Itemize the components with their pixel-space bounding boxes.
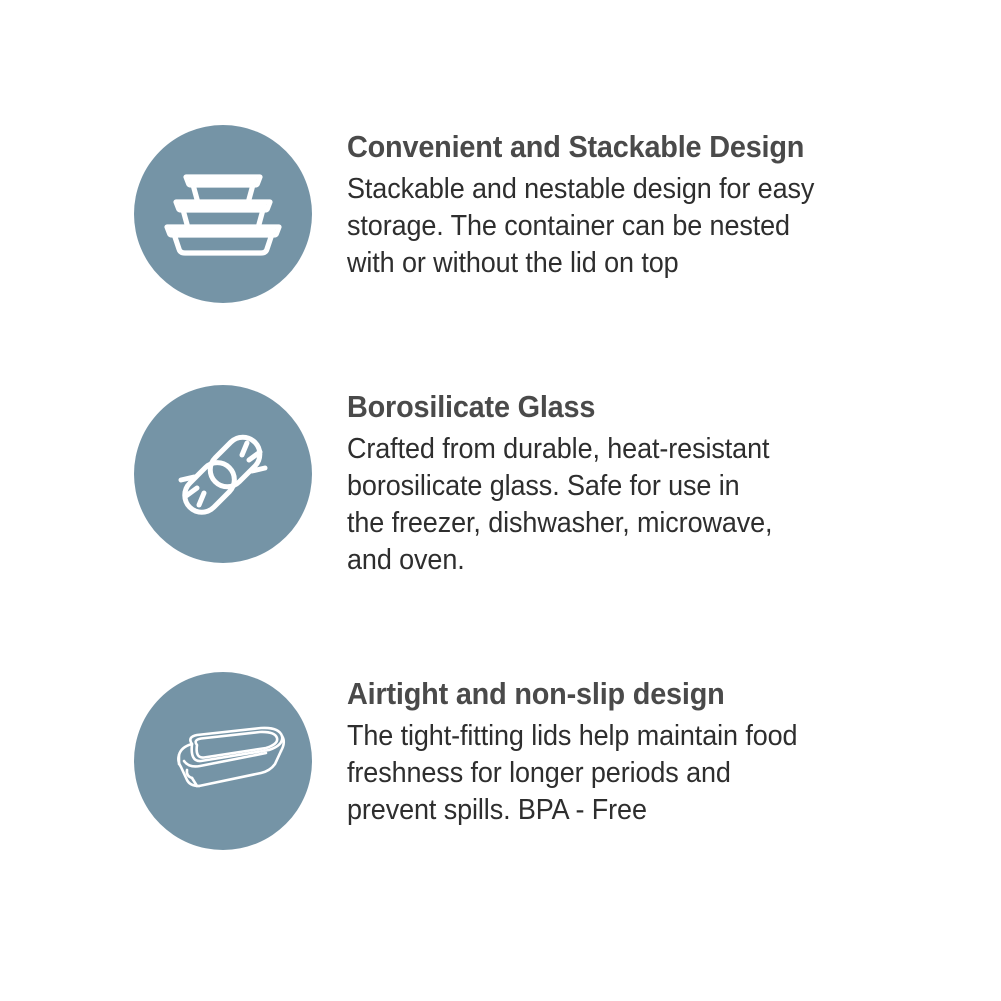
feature-heading: Airtight and non-slip design (347, 676, 831, 712)
feature-text-block: Borosilicate Glass Crafted from durable,… (347, 385, 867, 579)
feature-item-airtight-design: Airtight and non-slip design The tight-f… (0, 672, 1001, 850)
feature-icon-badge (134, 672, 312, 850)
airtight-container-with-lid-icon (157, 724, 289, 798)
stacked-nested-containers-icon (162, 171, 284, 257)
feature-body: Crafted from durable, heat-resistant bor… (347, 431, 831, 579)
feature-body: The tight-fitting lids help maintain foo… (347, 718, 831, 829)
feature-item-stackable-design: Convenient and Stackable Design Stackabl… (0, 125, 1001, 303)
feature-heading: Convenient and Stackable Design (347, 129, 831, 165)
feature-text-block: Convenient and Stackable Design Stackabl… (347, 125, 867, 282)
feature-body: Stackable and nestable design for easy s… (347, 171, 831, 282)
feature-item-borosilicate-glass: Borosilicate Glass Crafted from durable,… (0, 385, 1001, 579)
feature-heading: Borosilicate Glass (347, 389, 831, 425)
feature-icon-badge (134, 385, 312, 563)
feature-text-block: Airtight and non-slip design The tight-f… (347, 672, 867, 829)
feature-icon-badge (134, 125, 312, 303)
chain-link-strength-icon (170, 421, 276, 527)
feature-list: Convenient and Stackable Design Stackabl… (0, 0, 1001, 1001)
